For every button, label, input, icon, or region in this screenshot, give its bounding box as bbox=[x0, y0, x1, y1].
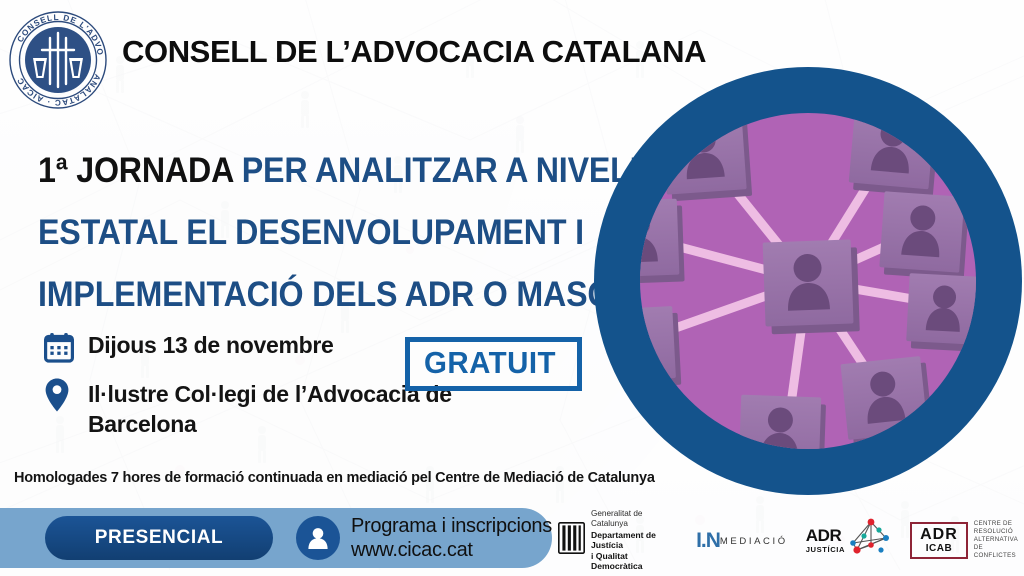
adr-icab-line-1: ADR bbox=[920, 527, 958, 543]
gencat-line-2: Departament de Justícia bbox=[591, 530, 678, 551]
program-line-1: Programa i inscripcions bbox=[351, 514, 552, 538]
poster-header: CONSELL DE L'ADVO ANALATAC · AICAC bbox=[0, 0, 660, 112]
program-info: Programa i inscripcions www.cicac.cat bbox=[296, 514, 552, 562]
calendar-icon bbox=[44, 330, 88, 363]
network-of-people-illustration bbox=[592, 64, 1024, 498]
gratuit-label: GRATUIT bbox=[424, 346, 556, 380]
person-icon bbox=[296, 516, 340, 560]
consell-advocacia-seal-icon: CONSELL DE L'ADVO ANALATAC · AICAC bbox=[6, 8, 110, 112]
adr-icab-sub-4: DE CONFLICTES bbox=[974, 544, 1018, 560]
headline-line-2: ESTATAL EL DESENVOLUPAMENT I bbox=[38, 202, 526, 264]
adr-justicia-line-1: ADR bbox=[806, 527, 845, 544]
headline-line-1-rest: PER ANALITZAR A NIVELL bbox=[242, 151, 649, 190]
in-mediacio-mark: I.N bbox=[696, 530, 720, 551]
homologation-note: Homologades 7 hores de formació continua… bbox=[14, 470, 614, 486]
sponsor-logos: Generalitat de Catalunya Departament de … bbox=[558, 512, 1018, 568]
in-mediacio-sub: MEDIACIÓ bbox=[720, 537, 788, 547]
sponsor-adr-justicia: ADR JUSTÍCIA bbox=[806, 517, 892, 564]
network-nodes-icon bbox=[848, 517, 892, 564]
adr-icab-sub-1: CENTRE DE bbox=[974, 520, 1018, 528]
sponsor-adr-icab: ADR ICAB CENTRE DE RESOLUCIÓ ALTERNATIVA… bbox=[910, 520, 1018, 560]
presencial-badge: PRESENCIAL bbox=[45, 516, 273, 560]
gencat-line-3: i Qualitat Democràtica bbox=[591, 551, 678, 572]
gencat-line-1: Generalitat de Catalunya bbox=[591, 509, 678, 530]
sponsor-in-mediacio: I.N MEDIACIÓ bbox=[696, 530, 788, 551]
poster-canvas: CONSELL DE L'ADVO ANALATAC · AICAC bbox=[0, 0, 1024, 576]
location-pin-icon bbox=[44, 375, 88, 413]
gratuit-badge: GRATUIT bbox=[405, 337, 582, 391]
catalonia-shield-icon bbox=[558, 522, 585, 559]
presencial-label: PRESENCIAL bbox=[95, 527, 223, 549]
adr-icab-line-2: ICAB bbox=[920, 544, 958, 554]
adr-icab-sub-2: RESOLUCIÓ bbox=[974, 528, 1018, 536]
headline-line-1: 1ª JORNADA PER ANALITZAR A NIVELL bbox=[38, 140, 526, 202]
program-website[interactable]: www.cicac.cat bbox=[351, 538, 552, 562]
headline-block: 1ª JORNADA PER ANALITZAR A NIVELL ESTATA… bbox=[38, 140, 568, 326]
headline-line-3: IMPLEMENTACIÓ DELS ADR O MASC bbox=[38, 264, 526, 326]
adr-icab-sub-3: ALTERNATIVA bbox=[974, 536, 1018, 544]
event-date: Dijous 13 de novembre bbox=[88, 330, 334, 360]
adr-justicia-line-2: JUSTÍCIA bbox=[806, 546, 845, 554]
headline-prefix: 1ª JORNADA bbox=[38, 151, 233, 190]
sponsor-generalitat-de-catalunya: Generalitat de Catalunya Departament de … bbox=[558, 509, 678, 572]
